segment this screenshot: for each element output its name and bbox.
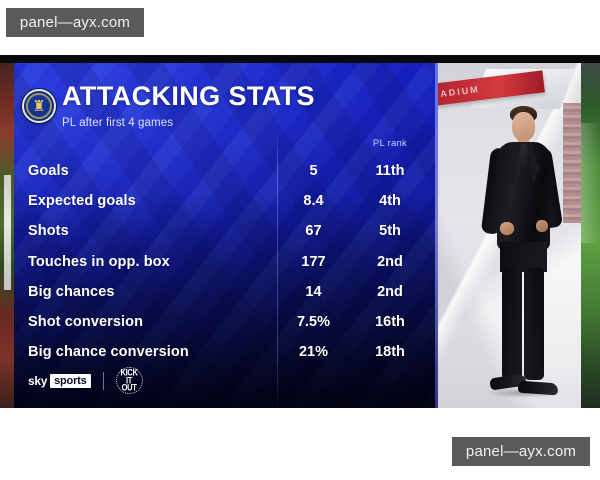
- stat-value: 67: [277, 223, 350, 239]
- stats-table: Goals 5 11th Expected goals 8.4 4th Shot…: [14, 156, 438, 367]
- stat-rank: 2nd: [350, 284, 430, 300]
- stat-rank: 11th: [350, 163, 430, 179]
- watermark-bottom: panel—ayx.com: [452, 437, 590, 466]
- stat-rank: 2nd: [350, 254, 430, 270]
- stat-label: Shot conversion: [14, 314, 277, 330]
- stat-value: 7.5%: [277, 314, 350, 330]
- kick-it-out-logo: KICK IT OUT: [116, 367, 143, 394]
- table-row: Shot conversion 7.5% 16th: [14, 307, 438, 337]
- letterbox-bar-top: [0, 55, 600, 63]
- stat-label: Expected goals: [14, 193, 277, 209]
- stat-label: Touches in opp. box: [14, 254, 277, 270]
- media-frame: ♜ ATTACKING STATS PL after first 4 games…: [0, 55, 600, 408]
- stat-label: Shots: [14, 223, 277, 239]
- stat-rank: 5th: [350, 223, 430, 239]
- figure-right-leg: [524, 268, 544, 380]
- table-row: Expected goals 8.4 4th: [14, 186, 438, 216]
- logo-separator: [103, 372, 104, 390]
- stat-value: 5: [277, 163, 350, 179]
- figure-left-leg: [502, 268, 522, 380]
- stat-rank: 16th: [350, 314, 430, 330]
- kick-it-out-line3: OUT: [122, 383, 137, 392]
- pitch-green-strip: [581, 63, 600, 408]
- pitch-highlight: [581, 123, 600, 243]
- stat-rank: 4th: [350, 193, 430, 209]
- column-header-pl-rank: PL rank: [350, 138, 430, 149]
- table-row: Shots 67 5th: [14, 216, 438, 246]
- stat-label: Big chance conversion: [14, 344, 277, 360]
- left-film-strip: [0, 55, 14, 408]
- table-row: Big chance conversion 21% 18th: [14, 337, 438, 367]
- watermark-top: panel—ayx.com: [6, 8, 144, 37]
- page-title: ATTACKING STATS: [62, 83, 315, 110]
- left-strip-highlight: [4, 175, 11, 290]
- crest-lion-glyph: ♜: [32, 99, 45, 114]
- panel-footer: sky sports KICK IT OUT: [28, 367, 143, 394]
- manager-photo-region: ADIUM: [438, 63, 600, 408]
- stat-value: 177: [277, 254, 350, 270]
- attacking-stats-panel: ♜ ATTACKING STATS PL after first 4 games…: [14, 63, 438, 408]
- stat-rank: 18th: [350, 344, 430, 360]
- stat-value: 8.4: [277, 193, 350, 209]
- figure-head: [512, 112, 535, 141]
- sports-wordmark: sports: [50, 374, 90, 388]
- table-row: Big chances 14 2nd: [14, 277, 438, 307]
- figure-right-hand: [536, 220, 548, 232]
- table-row: Touches in opp. box 177 2nd: [14, 247, 438, 277]
- stat-value: 14: [277, 284, 350, 300]
- page-subtitle: PL after first 4 games: [62, 117, 315, 129]
- chelsea-fc-crest-icon: ♜: [22, 89, 56, 123]
- figure-left-hand: [500, 222, 514, 235]
- sky-wordmark: sky: [28, 374, 47, 388]
- table-row: Goals 5 11th: [14, 156, 438, 186]
- stat-label: Goals: [14, 163, 277, 179]
- stat-label: Big chances: [14, 284, 277, 300]
- panel-header: ♜ ATTACKING STATS PL after first 4 games: [14, 63, 438, 85]
- title-block: ATTACKING STATS PL after first 4 games: [62, 83, 315, 129]
- sky-sports-logo: sky sports: [28, 374, 91, 388]
- manager-figure: [474, 92, 566, 402]
- stat-value: 21%: [277, 344, 350, 360]
